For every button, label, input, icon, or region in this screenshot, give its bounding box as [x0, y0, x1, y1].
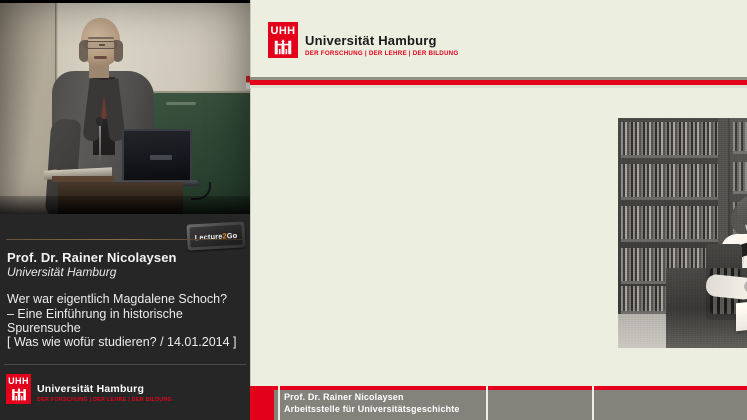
talk-series-and-date: [ Was wie wofür studieren? / 14.01.2014 …: [7, 335, 237, 349]
video-letterbox-top: [0, 0, 250, 3]
slide-footer-divider: [592, 386, 594, 420]
uhh-logo-letters: UHH: [6, 376, 31, 386]
eyebrows: [88, 37, 114, 39]
laptop-screen: [122, 129, 192, 181]
lecture2go-badge[interactable]: Lecture2Go: [186, 221, 245, 250]
hamburg-gate-icon: [274, 37, 292, 55]
slide-uhh-logo-mark: UHH: [268, 22, 298, 58]
slide-header-rule-pale: [250, 85, 747, 88]
slide-footer-divider: [278, 386, 280, 420]
lecture-video[interactable]: [0, 0, 250, 214]
slide-left-edge: [250, 0, 251, 420]
left-column: Lecture2Go Prof. Dr. Rainer Nicolaysen U…: [0, 0, 250, 420]
speaker-affiliation: Universität Hamburg: [7, 265, 116, 279]
lecture-recording-view: Lecture2Go Prof. Dr. Rainer Nicolaysen U…: [0, 0, 747, 420]
slide-footer-text: Prof. Dr. Rainer Nicolaysen Arbeitsstell…: [284, 392, 460, 414]
slide-footer-line-1: Prof. Dr. Rainer Nicolaysen: [284, 392, 460, 402]
talk-title-line-1: Wer war eigentlich Magdalene Schoch?: [7, 292, 227, 306]
slide-footer-red-block: [250, 386, 274, 420]
slide-uhh-logo: UHH Univ: [268, 22, 458, 58]
slide-uhh-logo-name: Universität Hamburg: [305, 33, 458, 48]
lecture2go-badge-inner: Lecture2Go: [189, 225, 242, 248]
talk-title-line-2: – Eine Einführung in historische Spurens…: [7, 307, 250, 335]
uhh-logo-name: Universität Hamburg: [37, 383, 172, 395]
presentation-slide[interactable]: UHH Univ: [250, 0, 747, 420]
hamburg-gate-icon: [11, 386, 26, 401]
chalk-mark: [166, 102, 196, 105]
speaker-head: [81, 18, 120, 66]
slide-footer-line-2: Arbeitsstelle für Universitätsgeschichte: [284, 404, 460, 414]
microphone-head: [96, 117, 103, 126]
slide-uhh-logo-letters: UHH: [268, 25, 298, 37]
uhh-logo-panel: UHH: [6, 374, 172, 404]
slide-uhh-logo-text: Universität Hamburg DER FORSCHUNG | DER …: [305, 33, 458, 58]
uhh-logo-text: Universität Hamburg DER FORSCHUNG | DER …: [37, 383, 172, 404]
divider-top: [6, 239, 244, 240]
talk-info-panel: Lecture2Go Prof. Dr. Rainer Nicolaysen U…: [0, 214, 250, 420]
stage-shadow: [0, 196, 250, 214]
photo-grain: [618, 118, 747, 348]
uhh-logo-mark: UHH: [6, 374, 31, 404]
laptop-logo: [150, 155, 172, 160]
lecture2go-label-before: Lecture: [194, 231, 222, 242]
slide-footer-divider: [486, 386, 488, 420]
glasses: [85, 41, 117, 49]
slide-archive-photo: [618, 118, 747, 348]
slide-uhh-logo-tagline: DER FORSCHUNG | DER LEHRE | DER BILDUNG: [305, 50, 458, 57]
divider-bottom: [4, 364, 246, 365]
mouth: [94, 56, 107, 59]
uhh-logo-tagline: DER FORSCHUNG | DER LEHRE | DER BILDUNG: [37, 397, 172, 403]
speaker-name: Prof. Dr. Rainer Nicolaysen: [7, 250, 177, 265]
